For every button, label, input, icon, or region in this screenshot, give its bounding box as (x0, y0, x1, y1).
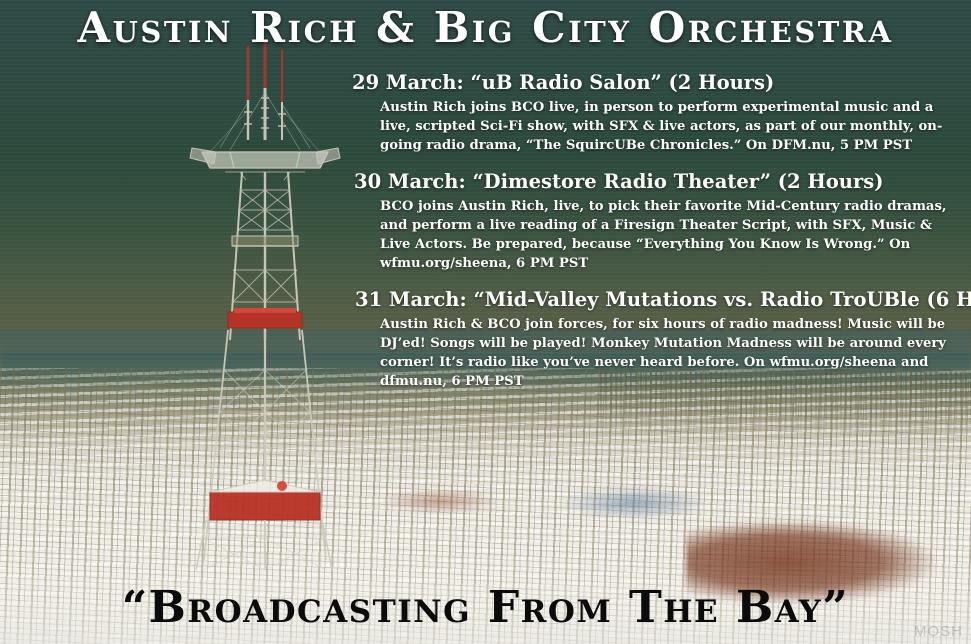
event-description: BCO joins Austin Rich, live, to pick the… (380, 197, 962, 274)
tagline-bar: “Broadcasting From The Bay” (0, 586, 971, 630)
watermark: MOSH (914, 623, 963, 640)
event-description: Austin Rich joins BCO live, in person to… (380, 98, 962, 155)
event-heading: 30 March: “Dimestore Radio Theater” (2 H… (354, 171, 962, 194)
poster-tagline: “Broadcasting From The Bay” (122, 586, 849, 630)
list-item: 31 March: “Mid-Valley Mutations vs. Radi… (352, 289, 962, 391)
event-heading: 29 March: “uB Radio Salon” (2 Hours) (352, 72, 962, 95)
event-list: 29 March: “uB Radio Salon” (2 Hours) Aus… (352, 72, 962, 391)
page-title: Austin Rich & Big City Orchestra (78, 6, 894, 50)
event-poster: Austin Rich & Big City Orchestra 29 Marc… (0, 0, 971, 644)
water-patch (560, 486, 710, 520)
event-heading: 31 March: “Mid-Valley Mutations vs. Radi… (355, 289, 962, 312)
event-description: Austin Rich & BCO join forces, for six h… (380, 315, 962, 392)
list-item: 29 March: “uB Radio Salon” (2 Hours) Aus… (352, 72, 962, 155)
earth-patch-left (380, 488, 500, 514)
list-item: 30 March: “Dimestore Radio Theater” (2 H… (352, 171, 962, 273)
title-bar: Austin Rich & Big City Orchestra (0, 6, 971, 50)
